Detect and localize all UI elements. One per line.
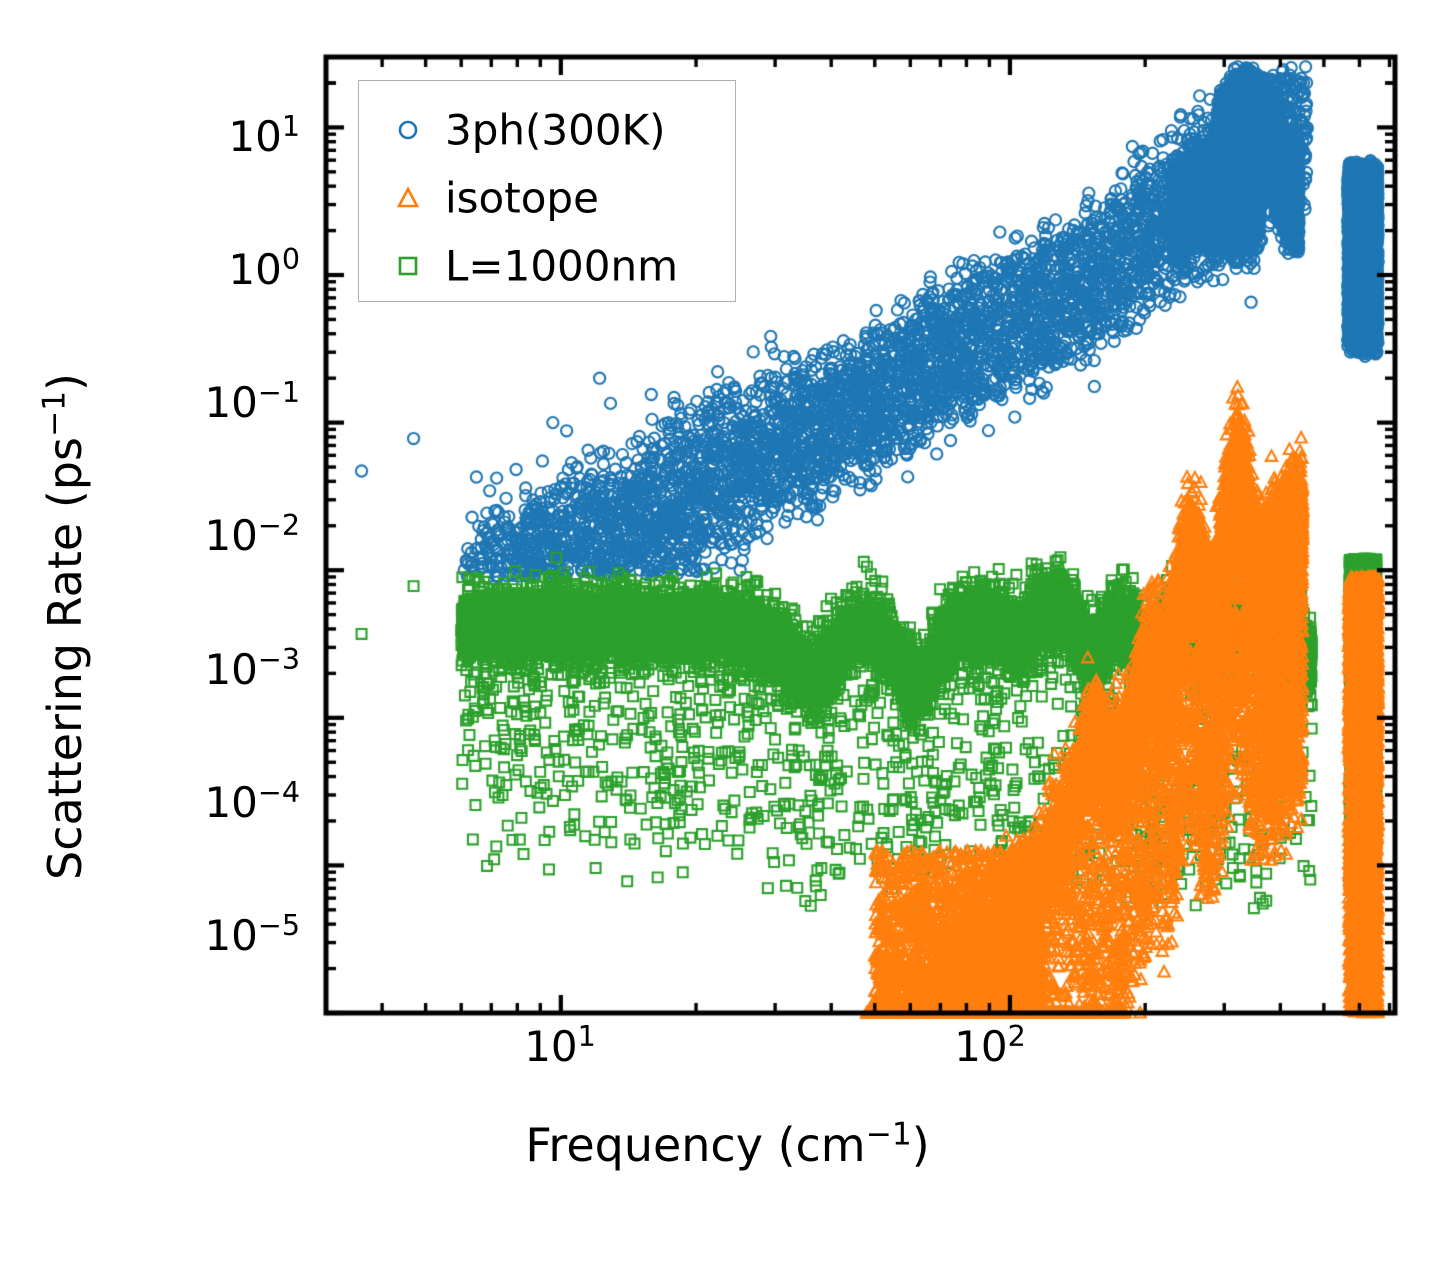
y-tick-label-1e-2: 10−2 xyxy=(130,511,300,560)
x-axis-label: Frequency (cm−1) xyxy=(0,1118,1455,1172)
x-tick-label-1e2: 102 xyxy=(900,1022,1080,1071)
scatter-plot-figure: 101 100 10−1 10−2 10−3 10−4 10−5 101 102… xyxy=(0,0,1455,1265)
y-tick-label-1e1: 101 xyxy=(150,112,300,161)
legend-label-boundary: L=1000nm xyxy=(445,242,678,291)
legend: 3ph(300K) isotope L=1000nm xyxy=(358,80,736,302)
square-marker-icon xyxy=(395,253,421,279)
triangle-marker-icon xyxy=(395,185,421,211)
y-tick-label-1e0: 100 xyxy=(150,245,300,294)
y-axis-label: Scattering Rate (ps−1) xyxy=(38,373,92,880)
y-tick-label-1e-4: 10−4 xyxy=(130,778,300,827)
y-tick-label-1e-1: 10−1 xyxy=(130,378,300,427)
circle-marker-icon xyxy=(395,117,421,143)
legend-entry-boundary: L=1000nm xyxy=(359,231,735,301)
legend-entry-isotope: isotope xyxy=(359,163,735,233)
legend-label-3ph: 3ph(300K) xyxy=(445,106,665,155)
legend-label-isotope: isotope xyxy=(445,174,599,223)
legend-entry-3ph: 3ph(300K) xyxy=(359,95,735,165)
x-tick-label-1e1: 101 xyxy=(470,1022,650,1071)
y-tick-label-1e-3: 10−3 xyxy=(130,645,300,694)
y-tick-label-1e-5: 10−5 xyxy=(130,911,300,960)
